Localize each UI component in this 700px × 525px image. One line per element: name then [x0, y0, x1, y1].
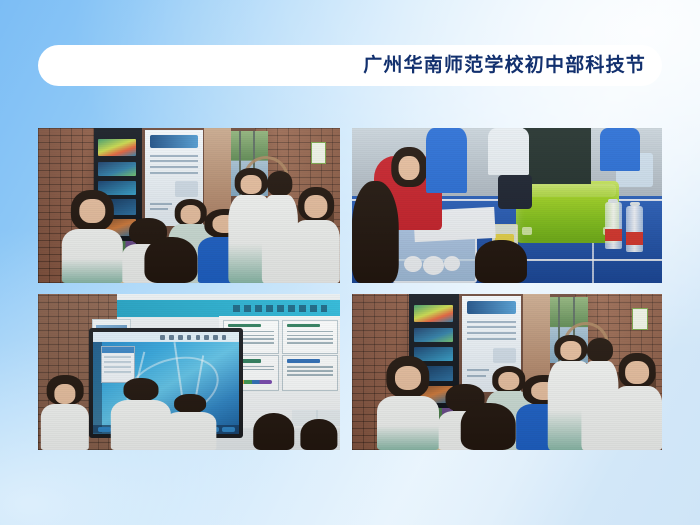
student-left [41, 375, 89, 450]
wall-sign [311, 142, 327, 164]
student-blue-jacket [600, 128, 640, 171]
student-figure [62, 190, 122, 283]
water-bottle [605, 202, 622, 249]
student-figure-foreground [138, 237, 204, 284]
student-white-uniform [488, 128, 528, 175]
photo-top-left[interactable] [38, 128, 340, 283]
whiteboard-toolbar[interactable] [93, 332, 239, 342]
water-bottle [626, 206, 643, 253]
student-foreground-a [249, 413, 297, 450]
student-figure [377, 356, 439, 450]
exhibit-header-banner [117, 300, 340, 317]
student-figure [292, 187, 340, 283]
wall-sign [632, 308, 648, 330]
panel-screen [98, 162, 136, 176]
page-title: 广州华南师范学校初中部科技节 [363, 56, 646, 75]
student-at-board-center [110, 378, 170, 450]
student-figure-foreground [454, 403, 522, 450]
photo-bottom-right[interactable] [352, 294, 662, 450]
student-foreground-center [470, 240, 532, 283]
photo-bottom-left[interactable] [38, 294, 340, 450]
panel-screen [414, 305, 453, 322]
student-foreground-left [352, 181, 399, 283]
student-blue-jacket [426, 128, 466, 193]
slide-canvas: 广州华南师范学校初中部科技节 [0, 0, 700, 525]
photo-top-right[interactable] [352, 128, 662, 283]
student-at-board-right [165, 394, 216, 450]
student-figure [612, 353, 662, 450]
student-foreground-b [298, 419, 340, 450]
panel-screen [414, 328, 453, 342]
panel-screen [98, 139, 136, 156]
black-bag [498, 175, 532, 209]
person-dark-shirt [523, 128, 591, 184]
title-banner: 广州华南师范学校初中部科技节 [38, 45, 662, 86]
photo-grid [38, 128, 662, 450]
